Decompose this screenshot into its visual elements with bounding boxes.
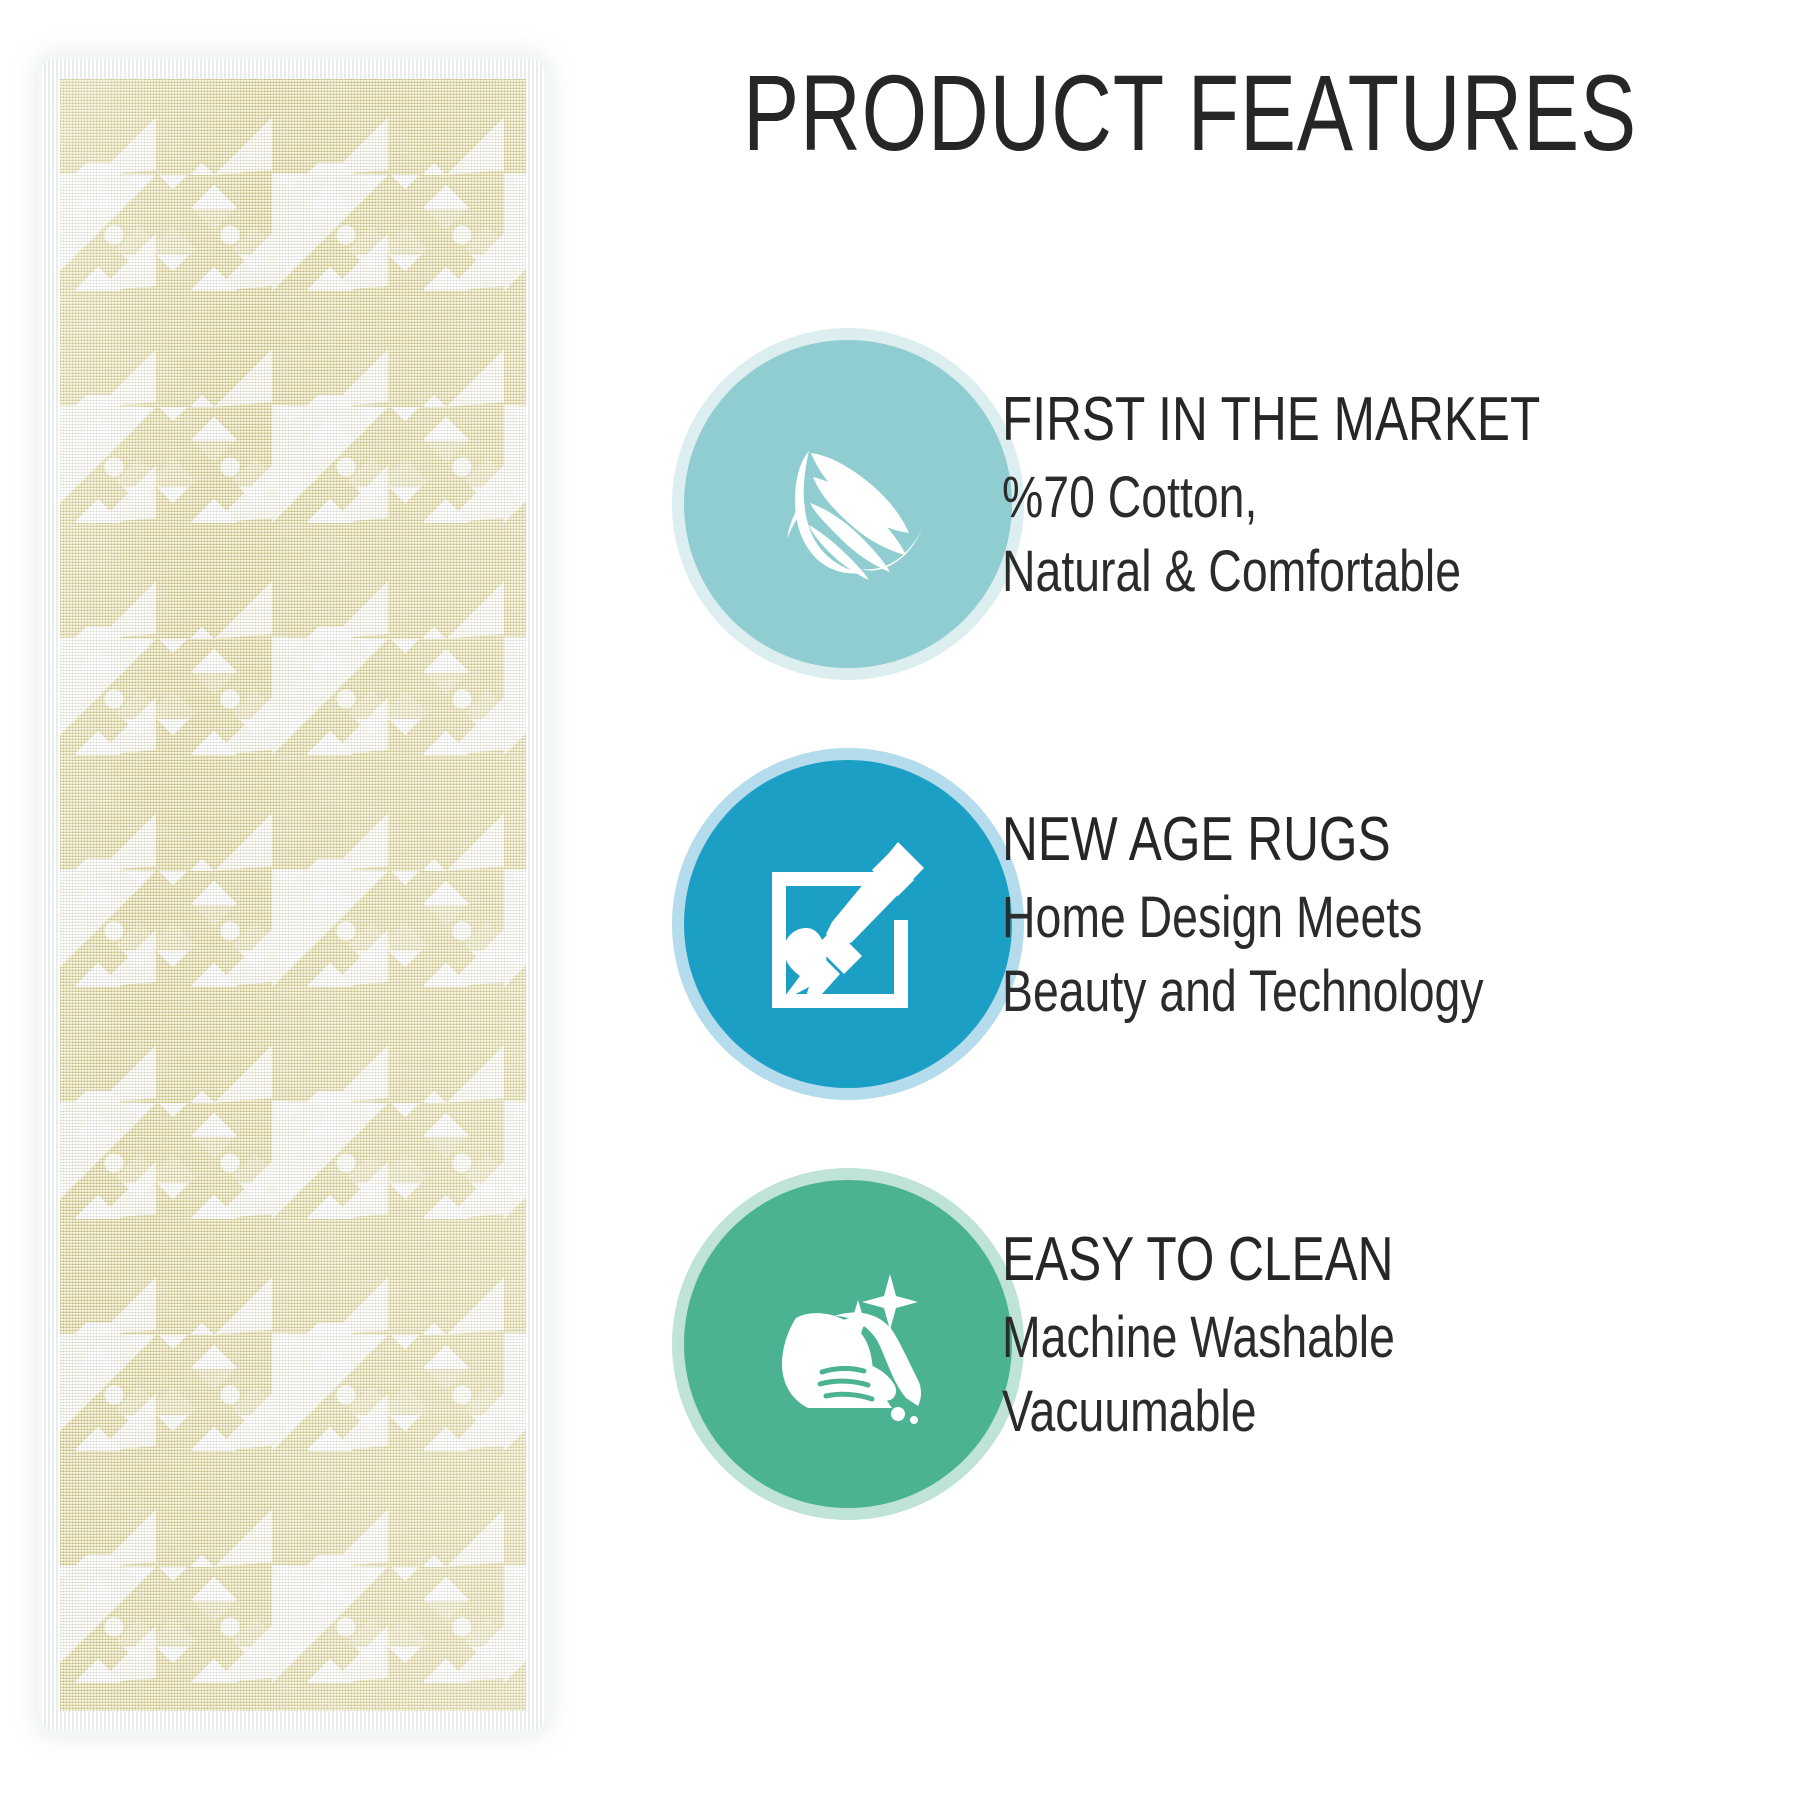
feature-title: EASY TO CLEAN: [1002, 1225, 1640, 1295]
feather-icon: [743, 399, 953, 609]
feature-item: FIRST IN THE MARKET %70 Cotton, Natural …: [580, 300, 1800, 700]
cleaning-hand-sparkle-icon: [742, 1238, 954, 1450]
rug-sheen-overlay: [60, 79, 526, 1711]
feature-text: EASY TO CLEAN Machine Washable Vacuumabl…: [980, 1225, 1800, 1455]
infographic-page: PRODUCT FEATURES: [0, 0, 1800, 1800]
feature-title: FIRST IN THE MARKET: [1002, 385, 1640, 455]
feature-badge: [580, 300, 980, 700]
badge-disc: [684, 1180, 1012, 1508]
feature-text: FIRST IN THE MARKET %70 Cotton, Natural …: [980, 385, 1800, 615]
rug-face: [60, 79, 526, 1711]
feature-title: NEW AGE RUGS: [1002, 805, 1640, 875]
feature-line: Natural & Comfortable: [1002, 535, 1640, 609]
feature-body: Home Design Meets Beauty and Technology: [1002, 881, 1800, 1029]
feature-text: NEW AGE RUGS Home Design Meets Beauty an…: [980, 805, 1800, 1035]
feature-line: Beauty and Technology: [1002, 955, 1640, 1029]
feature-line: Machine Washable: [1002, 1301, 1640, 1375]
features-column: PRODUCT FEATURES: [580, 0, 1800, 1800]
feature-item: EASY TO CLEAN Machine Washable Vacuumabl…: [580, 1140, 1800, 1540]
feature-line: Vacuumable: [1002, 1375, 1640, 1449]
feature-badge: [580, 720, 980, 1120]
feature-body: Machine Washable Vacuumable: [1002, 1301, 1800, 1449]
badge-disc: [684, 760, 1012, 1088]
feature-line: %70 Cotton,: [1002, 461, 1640, 535]
design-brush-pencil-icon: [748, 824, 948, 1024]
feature-body: %70 Cotton, Natural & Comfortable: [1002, 461, 1800, 609]
product-rug-image: [38, 55, 548, 1735]
feature-badge: [580, 1140, 980, 1540]
page-title: PRODUCT FEATURES: [714, 54, 1666, 172]
feature-item: NEW AGE RUGS Home Design Meets Beauty an…: [580, 720, 1800, 1120]
badge-disc: [684, 340, 1012, 668]
feature-line: Home Design Meets: [1002, 881, 1640, 955]
